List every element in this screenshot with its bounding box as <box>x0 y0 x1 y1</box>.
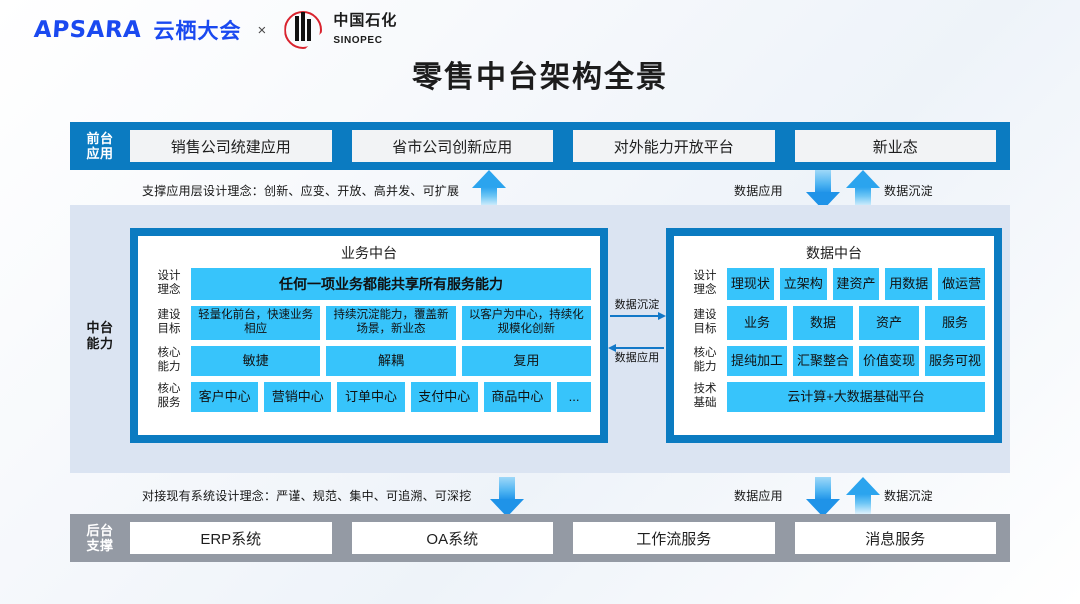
row-label-line2: 服务 <box>158 397 181 409</box>
arrow-up-icon <box>846 477 880 517</box>
annotation-bottom-left: 对接现有系统设计理念：严谨、规范、集中、可追溯、可深挖 <box>142 487 471 504</box>
front-layer-label-line1: 前台 <box>86 131 113 146</box>
row-label-design: 设计 理念 <box>683 268 727 300</box>
middle-layer-label: 中台 能力 <box>70 320 130 351</box>
row-label-design: 设计 理念 <box>147 268 191 300</box>
annotation-data-precipitation-bottom: 数据沉淀 <box>884 487 933 504</box>
back-layer-item[interactable]: ERP系统 <box>130 522 332 554</box>
sinopec-brand: 中国石化 SINOPEC <box>282 10 397 50</box>
business-row-goal: 建设 目标 轻量化前台，快速业务相应 持续沉淀能力，覆盖新场景，新业态 以客户为… <box>147 306 591 340</box>
front-layer-items: 销售公司统建应用 省市公司创新应用 对外能力开放平台 新业态 <box>130 130 1010 162</box>
business-core-service-cell[interactable]: 订单中心 <box>337 382 404 412</box>
data-design-cells: 理现状 立架构 建资产 用数据 做运营 <box>727 268 985 300</box>
arrow-left-icon <box>608 343 666 353</box>
row-label-line1: 核心 <box>158 383 181 395</box>
business-goal-cell[interactable]: 以客户为中心，持续化规模化创新 <box>462 306 591 340</box>
back-layer-label-line2: 支撑 <box>86 538 113 553</box>
business-row-design: 设计 理念 任何一项业务都能共享所有服务能力 <box>147 268 591 300</box>
data-design-cell[interactable]: 做运营 <box>938 268 985 300</box>
row-label-line1: 建设 <box>694 309 717 321</box>
arrow-up-icon <box>472 170 506 210</box>
front-layer-item[interactable]: 新业态 <box>795 130 997 162</box>
data-design-cell[interactable]: 建资产 <box>833 268 880 300</box>
front-layer-label-line2: 应用 <box>86 146 113 161</box>
business-goal-cells: 轻量化前台，快速业务相应 持续沉淀能力，覆盖新场景，新业态 以客户为中心，持续化… <box>191 306 591 340</box>
back-layer-item[interactable]: 消息服务 <box>795 522 997 554</box>
arrow-down-icon <box>806 170 840 210</box>
connector-precipitation: 数据沉淀 <box>608 300 666 343</box>
data-design-cell[interactable]: 理现状 <box>727 268 774 300</box>
row-label-line2: 理念 <box>694 284 717 296</box>
data-goal-cell[interactable]: 服务 <box>925 306 985 340</box>
data-design-cell[interactable]: 用数据 <box>885 268 932 300</box>
business-platform-card: 业务中台 设计 理念 任何一项业务都能共享所有服务能力 建设 目标 轻量化前台，… <box>130 228 608 443</box>
business-row-core-capability: 核心 能力 敏捷 解耦 复用 <box>147 346 591 376</box>
sinopec-label-en: SINOPEC <box>333 35 382 46</box>
arrow-down-icon <box>806 477 840 517</box>
data-row-design: 设计 理念 理现状 立架构 建资产 用数据 做运营 <box>683 268 985 300</box>
data-goal-cells: 业务 数据 资产 服务 <box>727 306 985 340</box>
business-core-service-cell[interactable]: 营销中心 <box>264 382 331 412</box>
data-design-cell[interactable]: 立架构 <box>780 268 827 300</box>
row-label-line2: 基础 <box>694 397 717 409</box>
row-label-line2: 目标 <box>158 323 181 335</box>
data-row-goal: 建设 目标 业务 数据 资产 服务 <box>683 306 985 340</box>
sinopec-label-cn: 中国石化 <box>333 12 397 29</box>
platform-connector: 数据沉淀 数据应用 <box>608 300 666 386</box>
data-core-capability-cell[interactable]: 提纯加工 <box>727 346 787 376</box>
row-label-line1: 核心 <box>158 347 181 359</box>
brand-header: APSARA 云栖大会 × 中国石化 SINOPEC <box>34 10 397 50</box>
row-label-goal: 建设 目标 <box>683 306 727 340</box>
annotation-data-application-top: 数据应用 <box>734 182 783 199</box>
data-tech-foundation-cell[interactable]: 云计算+大数据基础平台 <box>727 382 985 412</box>
front-layer-item[interactable]: 对外能力开放平台 <box>573 130 775 162</box>
business-core-service-cell[interactable]: 客户中心 <box>191 382 258 412</box>
row-label-line1: 设计 <box>694 270 717 282</box>
row-label-line1: 技术 <box>694 383 717 395</box>
front-layer-item[interactable]: 销售公司统建应用 <box>130 130 332 162</box>
business-design-cell[interactable]: 任何一项业务都能共享所有服务能力 <box>191 268 591 300</box>
business-design-cells: 任何一项业务都能共享所有服务能力 <box>191 268 591 300</box>
data-goal-cell[interactable]: 业务 <box>727 306 787 340</box>
back-layer-label-line1: 后台 <box>86 523 113 538</box>
annotation-data-application-bottom: 数据应用 <box>734 487 783 504</box>
connector-precipitation-label: 数据沉淀 <box>608 300 666 311</box>
data-platform-title: 数据中台 <box>683 243 985 263</box>
business-platform-title: 业务中台 <box>147 243 591 263</box>
row-label-core-service: 核心 服务 <box>147 382 191 412</box>
data-row-core-capability: 核心 能力 提纯加工 汇聚整合 价值变现 服务可视 <box>683 346 985 376</box>
row-label-core-capability: 核心 能力 <box>147 346 191 376</box>
data-core-capability-cell[interactable]: 价值变现 <box>859 346 919 376</box>
annotation-top-left: 支撑应用层设计理念：创新、应变、开放、高并发、可扩展 <box>142 182 459 199</box>
front-layer-label: 前台 应用 <box>70 131 130 162</box>
row-label-line2: 能力 <box>158 361 181 373</box>
arrow-right-icon <box>608 311 666 321</box>
business-row-core-service: 核心 服务 客户中心 营销中心 订单中心 支付中心 商品中心 ... <box>147 382 591 412</box>
business-core-service-cell[interactable]: 商品中心 <box>484 382 551 412</box>
row-label-line1: 设计 <box>158 270 181 282</box>
row-label-tech-foundation: 技术 基础 <box>683 382 727 412</box>
row-label-line1: 建设 <box>158 309 181 321</box>
row-label-line2: 理念 <box>158 284 181 296</box>
annotation-data-precipitation-top: 数据沉淀 <box>884 182 933 199</box>
business-core-capability-cells: 敏捷 解耦 复用 <box>191 346 591 376</box>
sinopec-logo-icon <box>282 10 326 50</box>
data-platform-card: 数据中台 设计 理念 理现状 立架构 建资产 用数据 做运营 建设 目标 <box>666 228 1002 443</box>
back-layer-band: 后台 支撑 ERP系统 OA系统 工作流服务 消息服务 <box>70 514 1010 562</box>
front-layer-band: 前台 应用 销售公司统建应用 省市公司创新应用 对外能力开放平台 新业态 <box>70 122 1010 170</box>
connector-application: 数据应用 <box>608 343 666 386</box>
data-core-capability-cell[interactable]: 汇聚整合 <box>793 346 853 376</box>
row-label-goal: 建设 目标 <box>147 306 191 340</box>
back-layer-item[interactable]: OA系统 <box>352 522 554 554</box>
data-core-capability-cell[interactable]: 服务可视 <box>925 346 985 376</box>
data-goal-cell[interactable]: 数据 <box>793 306 853 340</box>
front-layer-item[interactable]: 省市公司创新应用 <box>352 130 554 162</box>
row-label-core-capability: 核心 能力 <box>683 346 727 376</box>
row-label-line2: 目标 <box>694 323 717 335</box>
data-row-tech-foundation: 技术 基础 云计算+大数据基础平台 <box>683 382 985 412</box>
arrow-down-icon <box>490 477 524 517</box>
connector-application-label: 数据应用 <box>608 353 666 364</box>
middle-layer-label-line1: 中台 <box>86 320 113 335</box>
apsara-chinese-name: 云栖大会 <box>154 15 242 45</box>
business-core-capability-cell[interactable]: 解耦 <box>326 346 455 376</box>
cross-icon: × <box>258 22 267 39</box>
apsara-wordmark: APSARA <box>33 17 142 43</box>
business-core-service-cell[interactable]: 支付中心 <box>411 382 478 412</box>
business-goal-cell[interactable]: 持续沉淀能力，覆盖新场景，新业态 <box>326 306 455 340</box>
row-label-line1: 核心 <box>694 347 717 359</box>
back-layer-items: ERP系统 OA系统 工作流服务 消息服务 <box>130 522 1010 554</box>
arrow-up-icon <box>846 170 880 210</box>
business-core-capability-cell[interactable]: 敏捷 <box>191 346 320 376</box>
row-label-line2: 能力 <box>694 361 717 373</box>
business-core-capability-cell[interactable]: 复用 <box>462 346 591 376</box>
page-title: 零售中台架构全景 <box>0 52 1080 96</box>
data-core-capability-cells: 提纯加工 汇聚整合 价值变现 服务可视 <box>727 346 985 376</box>
data-goal-cell[interactable]: 资产 <box>859 306 919 340</box>
middle-layer-label-line2: 能力 <box>86 336 113 351</box>
back-layer-item[interactable]: 工作流服务 <box>573 522 775 554</box>
business-goal-cell[interactable]: 轻量化前台，快速业务相应 <box>191 306 320 340</box>
business-core-service-more[interactable]: ... <box>557 382 591 412</box>
data-tech-foundation-cells: 云计算+大数据基础平台 <box>727 382 985 412</box>
business-core-service-cells: 客户中心 营销中心 订单中心 支付中心 商品中心 ... <box>191 382 591 412</box>
back-layer-label: 后台 支撑 <box>70 523 130 554</box>
